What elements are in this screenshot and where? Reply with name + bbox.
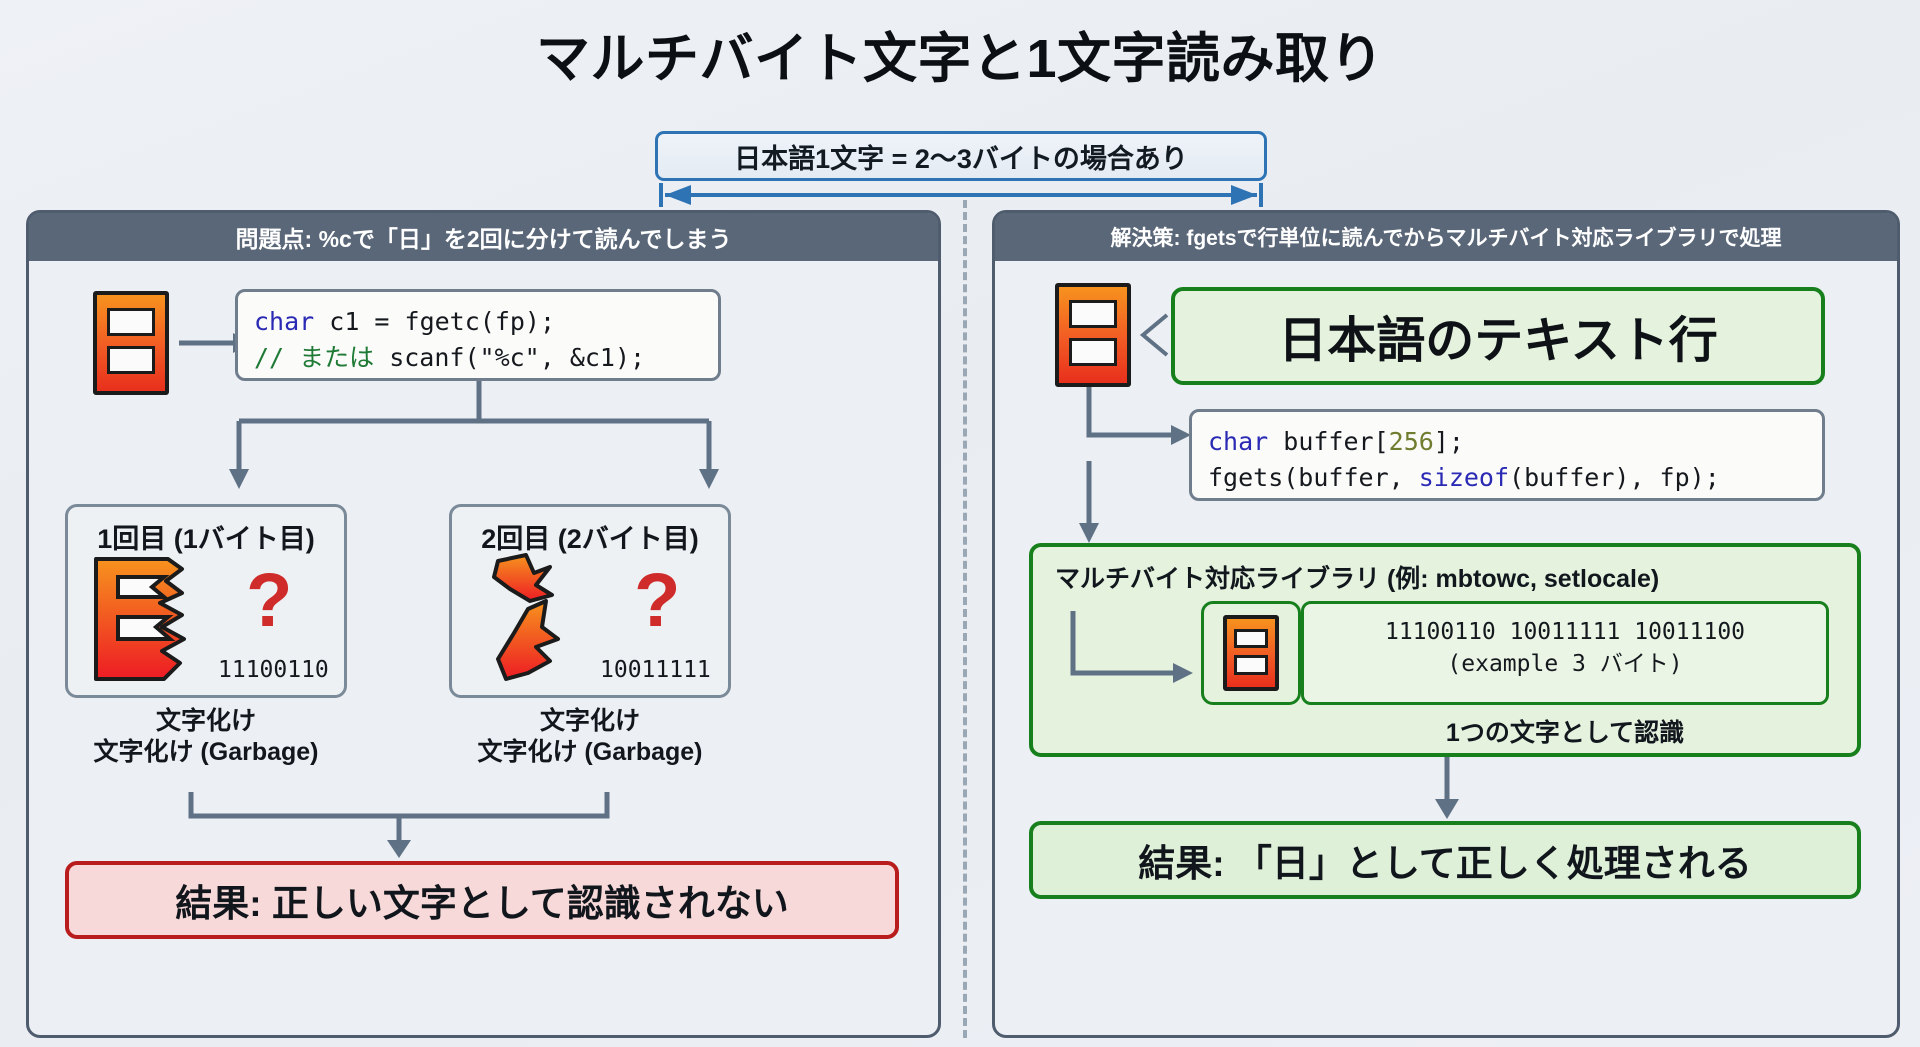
code-line1-mid: buffer[ (1268, 427, 1388, 456)
code-keyword-char: char (1208, 427, 1268, 456)
fgets-code-block: char buffer[256]; fgets(buffer, sizeof(b… (1189, 409, 1825, 501)
byte-box-first-title: 1回目 (1バイト目) (68, 517, 344, 556)
solution-result-box: 結果: 「日」として正しく処理される (1029, 821, 1861, 899)
code-keyword-sizeof: sizeof (1419, 463, 1509, 492)
garbage-line-2: 文字化け (Garbage) (55, 737, 357, 768)
fork-arrows-to-byte-boxes (149, 381, 709, 491)
connector-kanji-to-textline (1135, 313, 1169, 357)
multibyte-library-title: マルチバイト対応ライブラリ (例: mbtowc, setlocale) (1055, 559, 1659, 595)
byte-span-arrow (655, 181, 1267, 209)
byte-box-second-title: 2回目 (2バイト目) (452, 517, 728, 556)
code-comment: // または (254, 343, 374, 372)
code-line1-end: ]; (1434, 427, 1464, 456)
solution-panel-header: 解決策: fgetsで行単位に読んでからマルチバイト対応ライブラリで処理 (995, 213, 1897, 261)
byte-box-second-bits: 10011111 (600, 657, 711, 683)
kanji-small-frame (1201, 601, 1301, 705)
arrow-library-to-bytes (1065, 611, 1201, 693)
arrow-textline-to-code (1079, 387, 1199, 463)
problem-panel-header: 問題点: %cで「日」を2回に分けて読んでしまう (29, 213, 938, 261)
panel-divider (963, 200, 967, 1038)
arrow-code-to-library (1079, 461, 1119, 545)
code-line2-rest: scanf("%c", &c1); (374, 343, 645, 372)
code-line2-b: (buffer), fp); (1509, 463, 1720, 492)
byte-sequence-note: (example 3 バイト) (1304, 648, 1826, 680)
code-line1-rest: c1 = fgetc(fp); (314, 307, 555, 336)
byte-box-second-garbage-label: 文字化け 文字化け (Garbage) (439, 706, 741, 769)
byte-sequence-box: 11100110 10011111 10011100 (example 3 バイ… (1301, 601, 1829, 705)
japanese-text-line-label: 日本語のテキスト行 (1175, 291, 1821, 381)
byte-box-first-question: ? (246, 563, 292, 639)
code-keyword-char: char (254, 307, 314, 336)
arrow-library-to-result (1427, 757, 1467, 821)
japanese-text-line-box: 日本語のテキスト行 (1171, 287, 1825, 385)
byte-box-first-bits: 11100110 (218, 657, 329, 683)
problem-panel-body: char c1 = fgetc(fp); // または scanf("%c", … (29, 261, 938, 1035)
fgetc-code-block: char c1 = fgetc(fp); // または scanf("%c", … (235, 289, 721, 381)
torn-kanji-right-half-icon (480, 555, 602, 683)
page-title: マルチバイト文字と1文字読み取り (0, 14, 1920, 93)
byte-box-second: 2回目 (2バイト目) ? 10011111 (449, 504, 731, 698)
byte-box-second-question: ? (634, 563, 680, 639)
byte-length-badge: 日本語1文字 = 2〜3バイトの場合あり (655, 131, 1267, 181)
kanji-hi-icon (93, 291, 169, 395)
garbage-line-1: 文字化け (439, 706, 741, 737)
solution-panel: 解決策: fgetsで行単位に読んでからマルチバイト対応ライブラリで処理 日本語… (992, 210, 1900, 1038)
kanji-hi-icon (1055, 283, 1131, 387)
code-buffer-size: 256 (1389, 427, 1434, 456)
garbage-line-2: 文字化け (Garbage) (439, 737, 741, 768)
multibyte-library-box: マルチバイト対応ライブラリ (例: mbtowc, setlocale) 111… (1029, 543, 1861, 757)
one-character-caption: 1つの文字として認識 (1301, 713, 1829, 749)
torn-kanji-left-half-icon (90, 555, 212, 683)
byte-sequence-bits: 11100110 10011111 10011100 (1304, 616, 1826, 648)
solution-panel-body: 日本語のテキスト行 char buffer[256]; fgets(buffer… (995, 261, 1897, 1035)
problem-panel: 問題点: %cで「日」を2回に分けて読んでしまう char c1 = fgetc… (26, 210, 941, 1038)
byte-box-first: 1回目 (1バイト目) ? 11100110 (65, 504, 347, 698)
code-line2-a: fgets(buffer, (1208, 463, 1419, 492)
garbage-line-1: 文字化け (55, 706, 357, 737)
merge-arrow-to-result (179, 788, 619, 860)
byte-box-first-garbage-label: 文字化け 文字化け (Garbage) (55, 706, 357, 769)
problem-result-box: 結果: 正しい文字として認識されない (65, 861, 899, 939)
